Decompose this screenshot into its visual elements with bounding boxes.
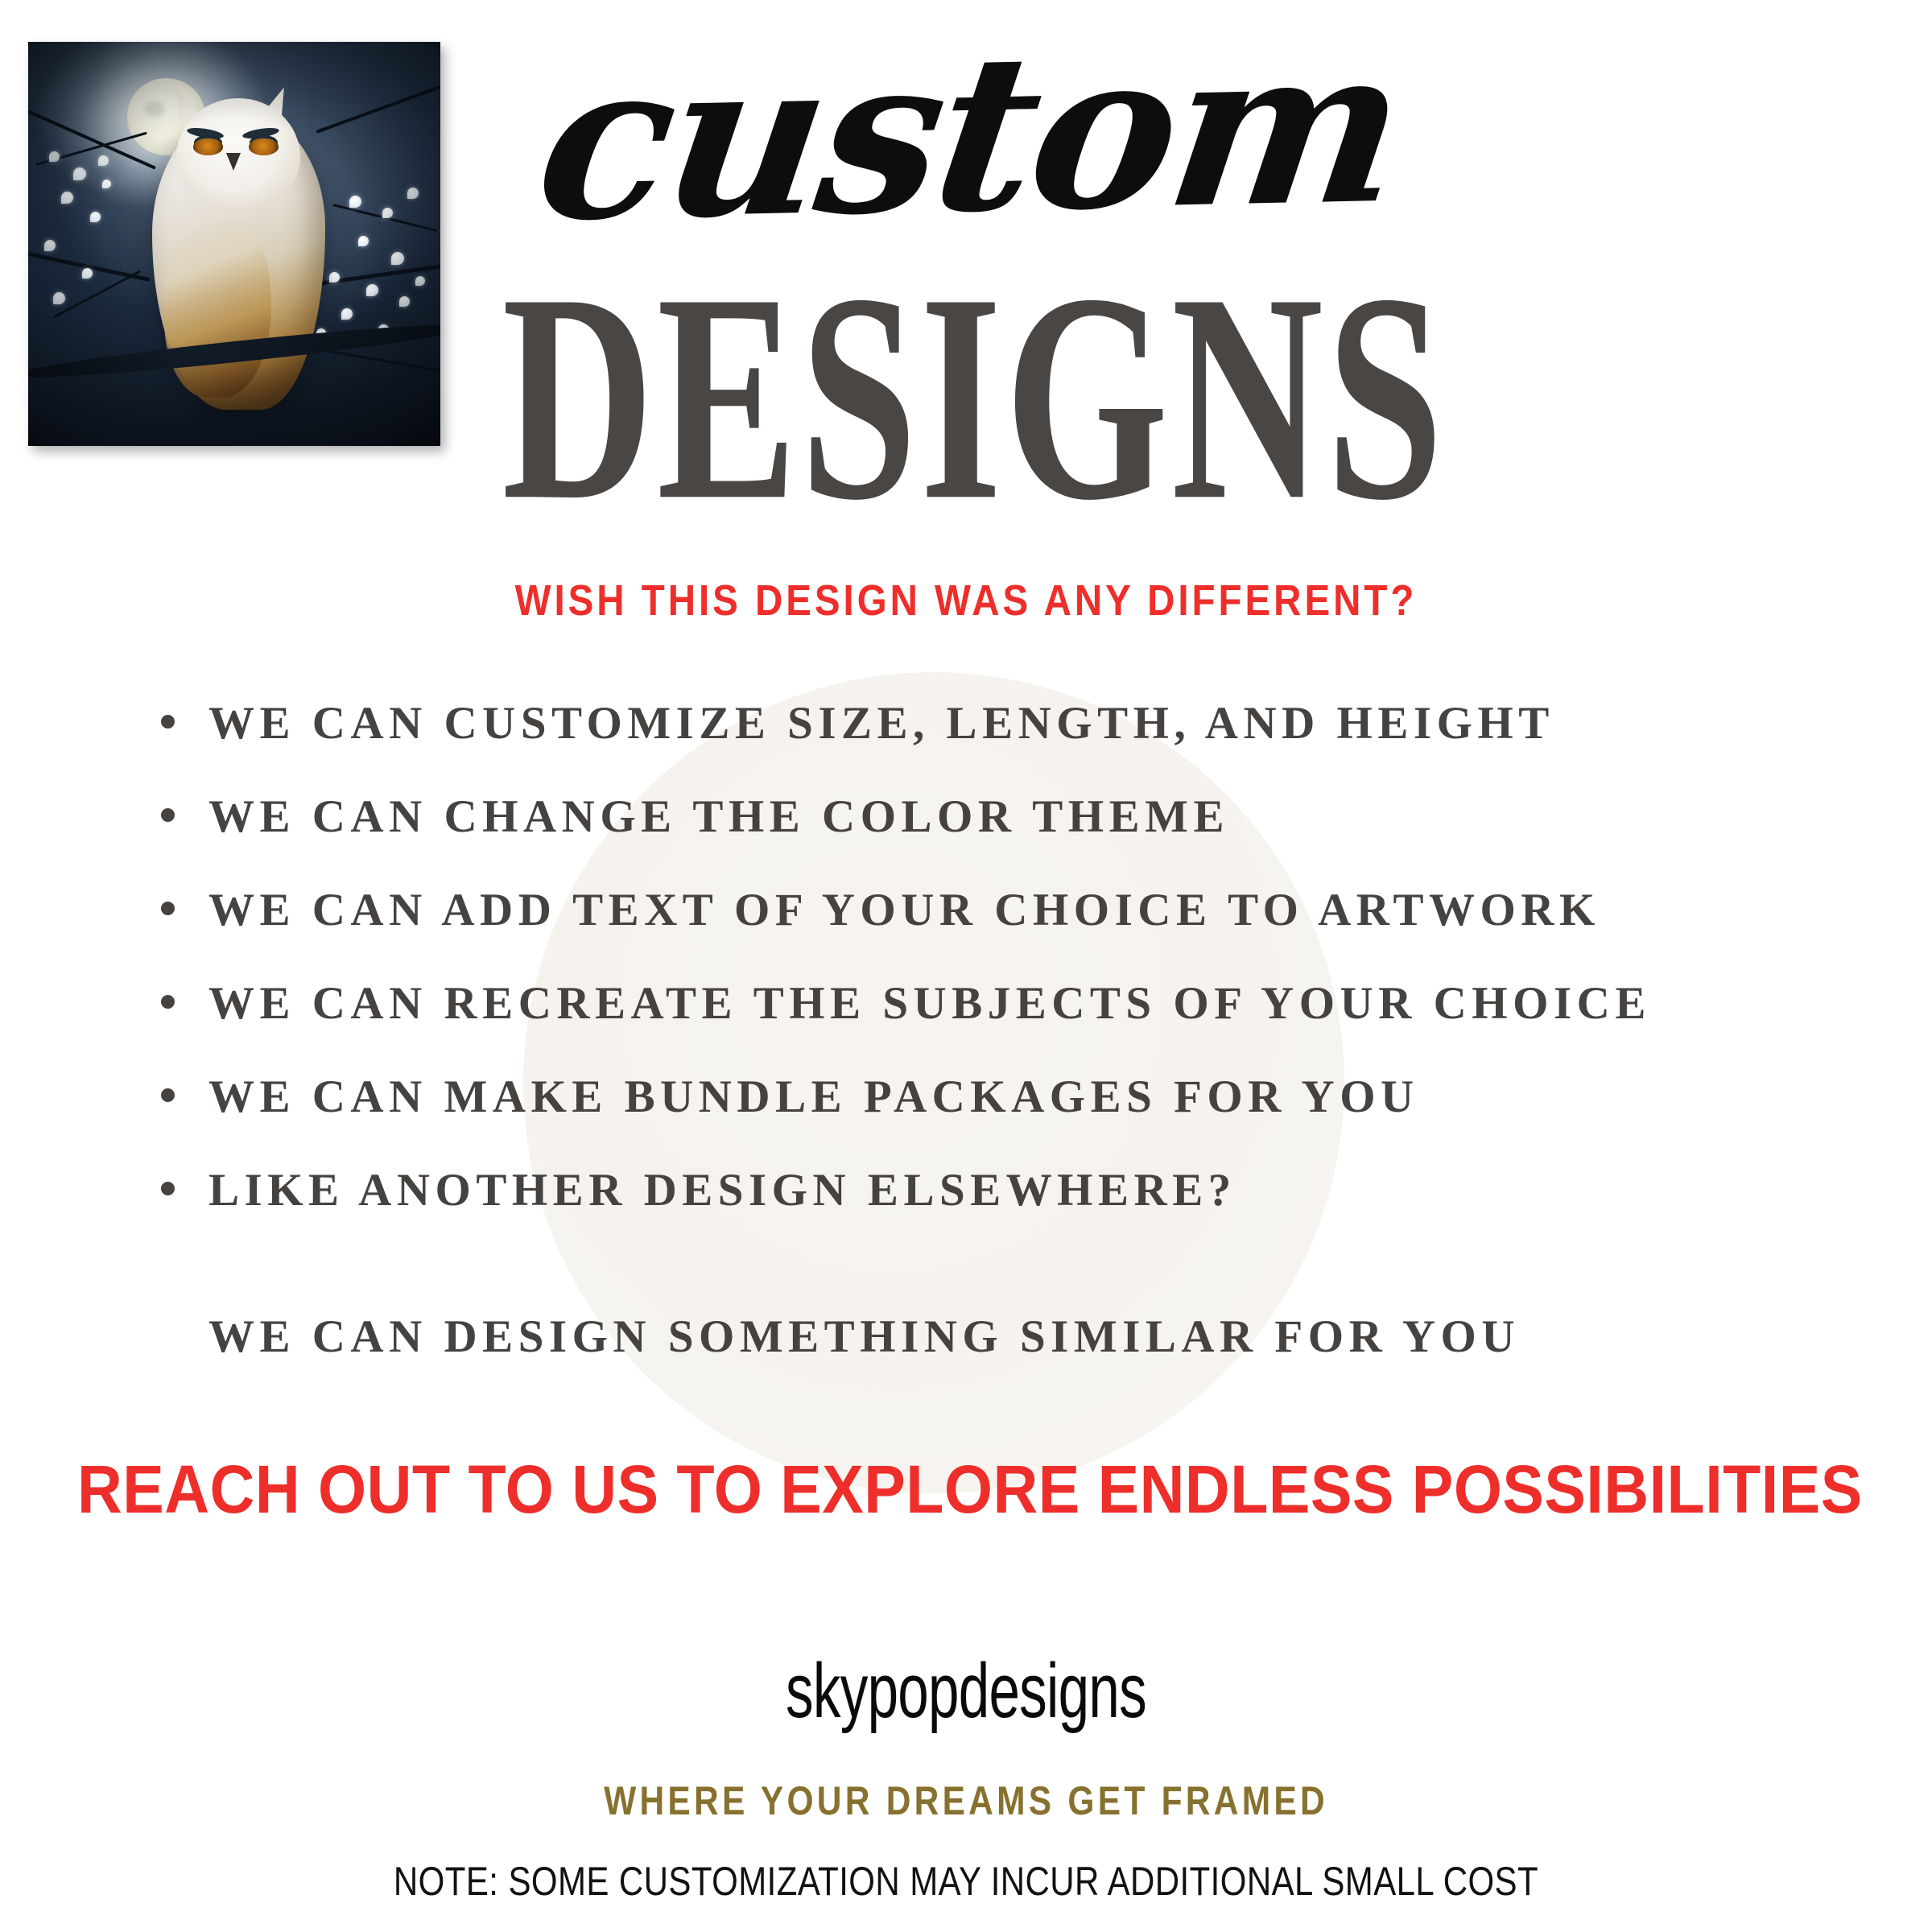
bullet-dot-icon xyxy=(161,715,175,729)
list-item: WE CAN RECREATE THE SUBJECTS OF YOUR CHO… xyxy=(161,980,1851,1074)
call-to-action-text[interactable]: REACH OUT TO US TO EXPLORE ENDLESS POSSI… xyxy=(77,1451,1855,1529)
owl-painting-illustration xyxy=(28,42,440,446)
benefits-list: WE CAN CUSTOMIZE SIZE, LENGTH, AND HEIGH… xyxy=(161,700,1851,1261)
disclaimer-note: NOTE: SOME CUSTOMIZATION MAY INCUR ADDIT… xyxy=(155,1858,1777,1905)
headline-block: custom DESIGNS xyxy=(451,32,1497,463)
poster-canvas: custom DESIGNS WISH THIS DESIGN WAS ANY … xyxy=(0,0,1932,1932)
list-item-label: WE CAN CHANGE THE COLOR THEME xyxy=(208,794,1229,840)
list-item-label: LIKE ANOTHER DESIGN ELSEWHERE? xyxy=(208,1167,1236,1213)
artwork-thumbnail[interactable] xyxy=(28,42,440,446)
script-custom-word: custom xyxy=(528,23,1411,246)
list-item-label: WE CAN MAKE BUNDLE PACKAGES FOR YOU xyxy=(208,1074,1419,1120)
list-item: WE CAN CHANGE THE COLOR THEME xyxy=(161,794,1851,887)
subtitle-question: WISH THIS DESIGN WAS ANY DIFFERENT? xyxy=(116,576,1816,625)
brand-logo-text: skypopdesigns xyxy=(270,1647,1662,1736)
bullet-dot-icon xyxy=(161,995,175,1009)
list-item-label: WE CAN CUSTOMIZE SIZE, LENGTH, AND HEIGH… xyxy=(208,700,1554,746)
bullet-dot-icon xyxy=(161,1182,175,1195)
list-item-label: WE CAN RECREATE THE SUBJECTS OF YOUR CHO… xyxy=(208,980,1651,1026)
list-item: WE CAN CUSTOMIZE SIZE, LENGTH, AND HEIGH… xyxy=(161,700,1851,794)
bullet-dot-icon xyxy=(161,902,175,915)
list-item-label: WE CAN ADD TEXT OF YOUR CHOICE TO ARTWOR… xyxy=(208,887,1600,933)
vignette-overlay xyxy=(28,42,440,446)
list-item: LIKE ANOTHER DESIGN ELSEWHERE? xyxy=(161,1167,1851,1261)
brand-tagline: WHERE YOUR DREAMS GET FRAMED xyxy=(145,1777,1787,1824)
bullet-dot-icon xyxy=(161,808,175,822)
list-item: WE CAN ADD TEXT OF YOUR CHOICE TO ARTWOR… xyxy=(161,887,1851,980)
list-item-continuation-label: WE CAN DESIGN SOMETHING SIMILAR FOR YOU xyxy=(208,1314,1520,1360)
page-title: DESIGNS xyxy=(493,276,1455,520)
bullet-dot-icon xyxy=(161,1088,175,1102)
list-item: WE CAN MAKE BUNDLE PACKAGES FOR YOU xyxy=(161,1074,1851,1167)
